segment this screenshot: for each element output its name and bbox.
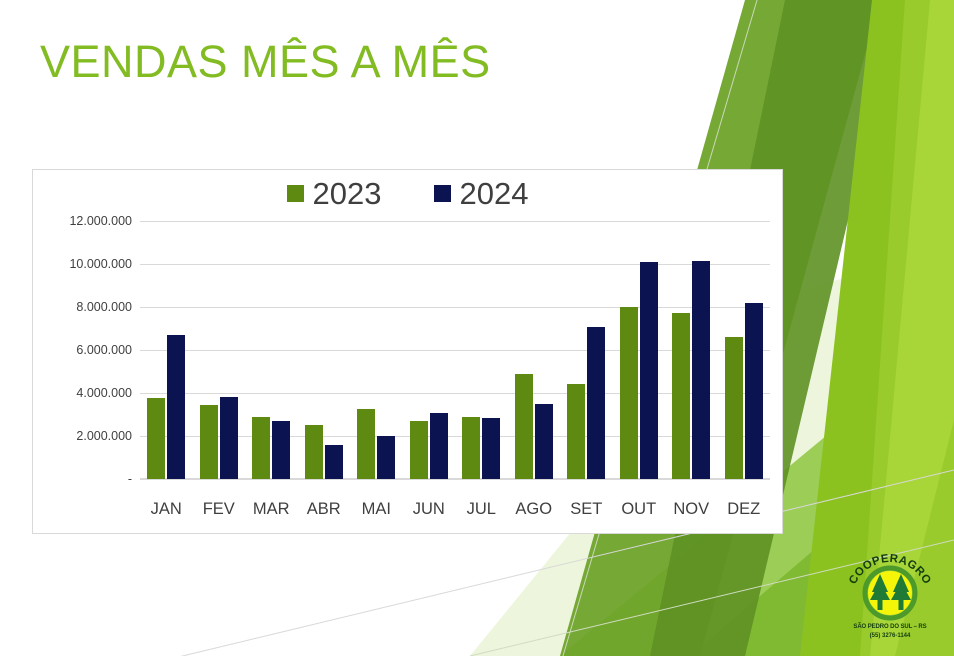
bar-group (245, 221, 298, 479)
bar-2024-NOV[interactable] (692, 261, 710, 479)
x-axis-tick-label: DEZ (718, 500, 771, 519)
y-axis-tick-label: 6.000.000 (76, 343, 132, 357)
bar-2023-AGO[interactable] (515, 374, 533, 479)
bar-2023-JUN[interactable] (410, 421, 428, 479)
bar-group (403, 221, 456, 479)
x-axis-tick-label: JUN (403, 500, 456, 519)
x-axis-tick-label: AGO (508, 500, 561, 519)
bar-group (665, 221, 718, 479)
slide-canvas: VENDAS MÊS A MÊS 2023 2024 12.000.00010.… (0, 0, 954, 656)
bar-group (560, 221, 613, 479)
bar-group (455, 221, 508, 479)
bar-group (718, 221, 771, 479)
legend-item-2023[interactable]: 2023 (287, 178, 382, 209)
x-axis-tick-label: MAR (245, 500, 298, 519)
bar-2023-SET[interactable] (567, 384, 585, 479)
bar-2024-MAI[interactable] (377, 436, 395, 479)
bar-2024-AGO[interactable] (535, 404, 553, 479)
sales-bar-chart: 2023 2024 12.000.00010.000.0008.000.0006… (32, 169, 783, 534)
x-axis-tick-label: SET (560, 500, 613, 519)
bar-2023-MAI[interactable] (357, 409, 375, 479)
bar-group (350, 221, 403, 479)
x-axis-tick-label: JAN (140, 500, 193, 519)
bar-2024-OUT[interactable] (640, 262, 658, 479)
y-axis-tick-label: - (128, 472, 132, 486)
y-axis-tick-label: 8.000.000 (76, 300, 132, 314)
bar-2024-JUL[interactable] (482, 418, 500, 479)
legend-swatch-2024 (434, 185, 451, 202)
bar-2023-FEV[interactable] (200, 405, 218, 479)
y-axis-tick-label: 12.000.000 (69, 214, 132, 228)
bar-group (140, 221, 193, 479)
bar-2023-MAR[interactable] (252, 417, 270, 479)
x-axis-tick-labels: JANFEVMARABRMAIJUNJULAGOSETOUTNOVDEZ (140, 500, 770, 519)
bar-2024-FEV[interactable] (220, 397, 238, 479)
cooperagro-logo: COOPERAGRO SÃO PEDRO DO SUL – RS (55) 32… (836, 548, 944, 652)
y-axis-tick-label: 4.000.000 (76, 386, 132, 400)
bar-group (193, 221, 246, 479)
logo-mark: COOPERAGRO (836, 548, 944, 626)
legend-swatch-2023 (287, 185, 304, 202)
logo-phone-text: (55) 3276-1144 (836, 633, 944, 639)
plot-area: 12.000.00010.000.0008.000.0006.000.0004.… (140, 221, 770, 479)
y-axis-tick-label: 2.000.000 (76, 429, 132, 443)
legend-label-2024: 2024 (460, 178, 529, 209)
bar-2023-OUT[interactable] (620, 307, 638, 479)
bar-2024-JUN[interactable] (430, 413, 448, 479)
bar-groups (140, 221, 770, 479)
bar-2024-ABR[interactable] (325, 445, 343, 479)
x-axis-tick-label: FEV (193, 500, 246, 519)
bar-2023-JUL[interactable] (462, 417, 480, 479)
x-axis-tick-label: ABR (298, 500, 351, 519)
bar-2024-SET[interactable] (587, 327, 605, 479)
legend-label-2023: 2023 (313, 178, 382, 209)
bar-group (613, 221, 666, 479)
x-axis-tick-label: JUL (455, 500, 508, 519)
bar-2024-DEZ[interactable] (745, 303, 763, 479)
page-title: VENDAS MÊS A MÊS (40, 36, 491, 88)
chart-legend: 2023 2024 (33, 178, 782, 209)
bar-2024-JAN[interactable] (167, 335, 185, 479)
bar-2023-ABR[interactable] (305, 425, 323, 479)
y-axis-tick-label: 10.000.000 (69, 257, 132, 271)
x-axis-tick-label: NOV (665, 500, 718, 519)
bar-group (508, 221, 561, 479)
bar-2023-NOV[interactable] (672, 313, 690, 479)
bar-2024-MAR[interactable] (272, 421, 290, 479)
bar-group (298, 221, 351, 479)
bar-2023-DEZ[interactable] (725, 337, 743, 479)
legend-item-2024[interactable]: 2024 (434, 178, 529, 209)
logo-city-text: SÃO PEDRO DO SUL – RS (836, 624, 944, 630)
gridline (140, 479, 770, 480)
bar-2023-JAN[interactable] (147, 398, 165, 479)
x-axis-tick-label: OUT (613, 500, 666, 519)
x-axis-tick-label: MAI (350, 500, 403, 519)
